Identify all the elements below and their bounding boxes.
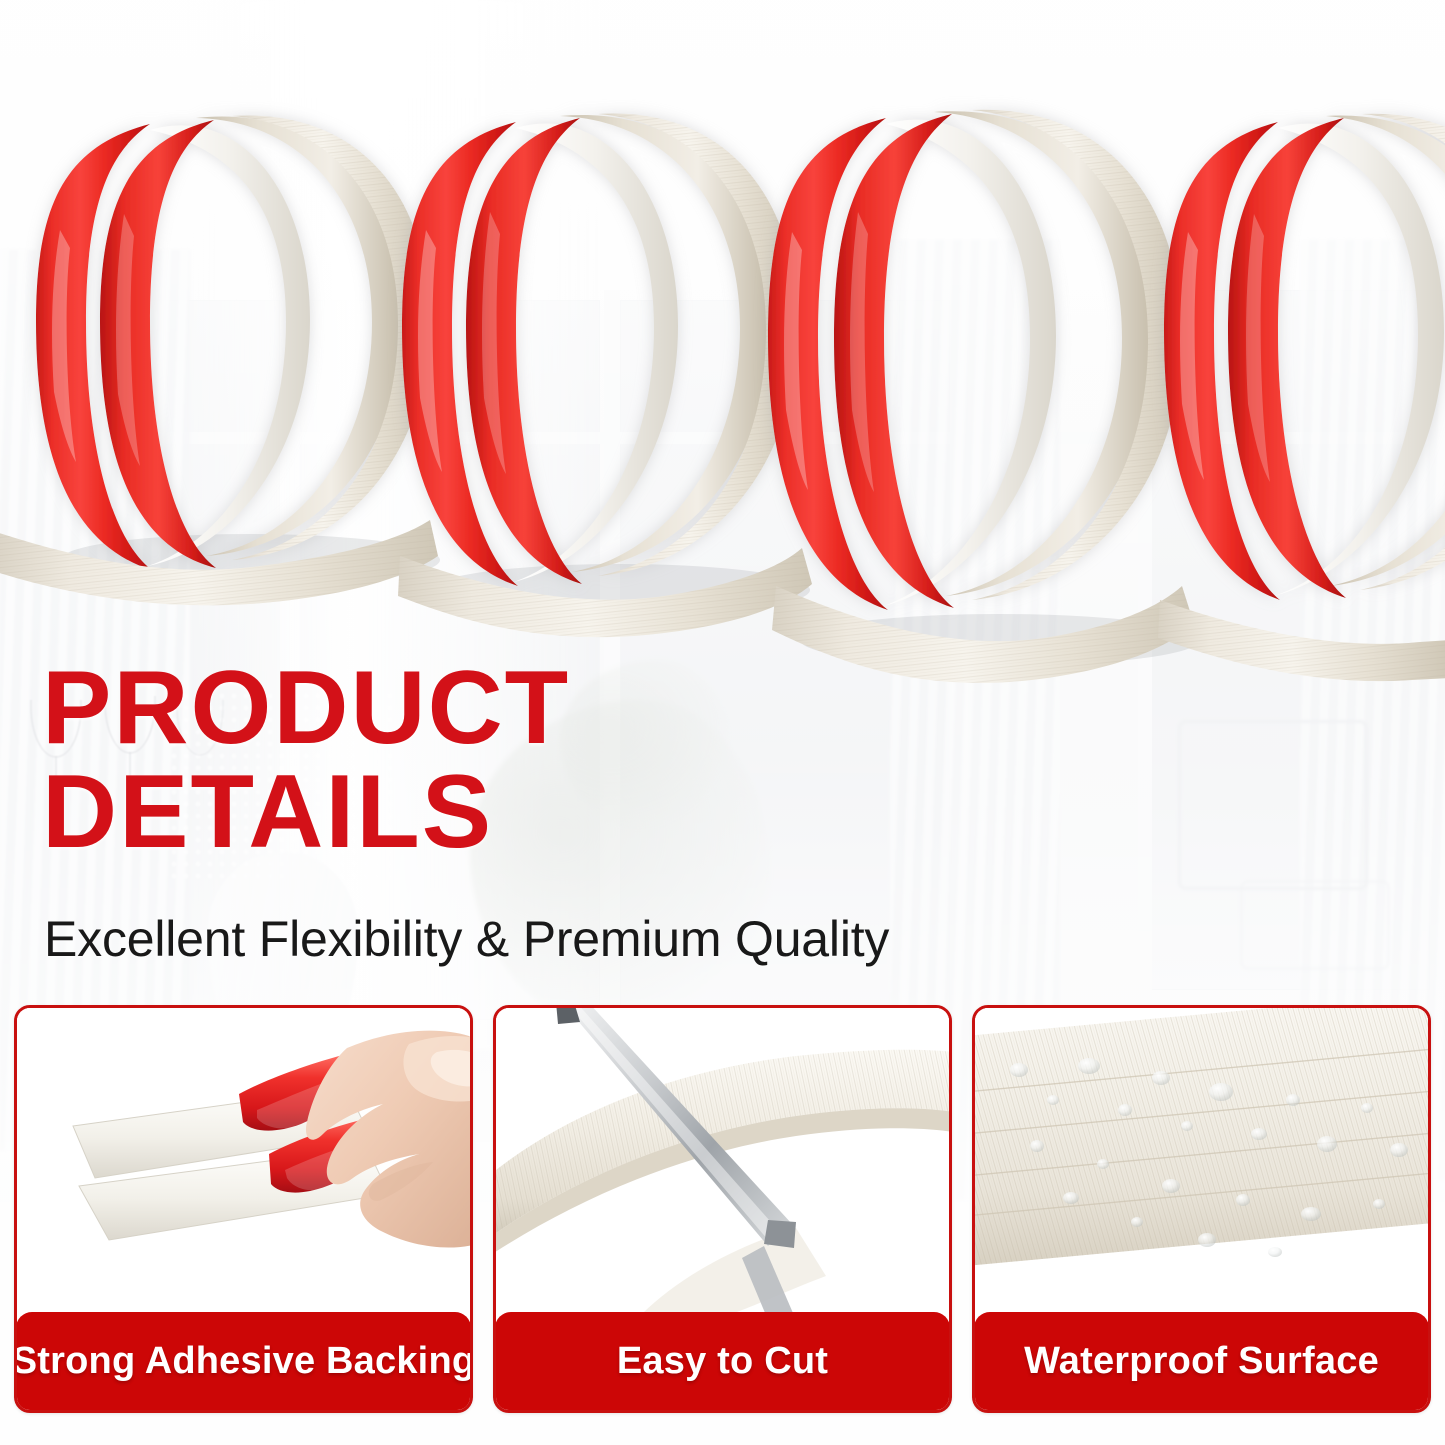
coil-loop-4 (1164, 114, 1445, 600)
headline-line-1: PRODUCT (42, 660, 1162, 758)
feature-photo-waterproof (975, 1008, 1428, 1314)
coil-loop-1 (36, 116, 430, 570)
feature-caption-adhesive-label: Strong Adhesive Backing (14, 1340, 473, 1383)
hero-edge-banding-coil (0, 0, 1445, 720)
feature-card-adhesive[interactable]: Strong Adhesive Backing (14, 1005, 473, 1413)
feature-caption-waterproof-label: Waterproof Surface (1024, 1340, 1379, 1383)
feature-photo-adhesive (17, 1008, 470, 1314)
feature-caption-adhesive: Strong Adhesive Backing (16, 1312, 471, 1411)
feature-photo-cut (496, 1008, 949, 1314)
feature-cards: Strong Adhesive Backing (14, 1005, 1431, 1413)
feature-caption-cut: Easy to Cut (495, 1312, 950, 1411)
headline-block: PRODUCT DETAILS (42, 660, 1162, 862)
feature-card-waterproof[interactable]: Waterproof Surface (972, 1005, 1431, 1413)
feature-caption-waterproof: Waterproof Surface (974, 1312, 1429, 1411)
coil-loop-3 (768, 110, 1182, 610)
product-detail-poster: PRODUCT DETAILS Excellent Flexibility & … (0, 0, 1445, 1445)
subheadline: Excellent Flexibility & Premium Quality (44, 910, 889, 968)
feature-card-cut[interactable]: Easy to Cut (493, 1005, 952, 1413)
feature-caption-cut-label: Easy to Cut (617, 1340, 828, 1383)
headline-line-2: DETAILS (42, 764, 1162, 862)
coil-loop-2 (402, 114, 798, 586)
